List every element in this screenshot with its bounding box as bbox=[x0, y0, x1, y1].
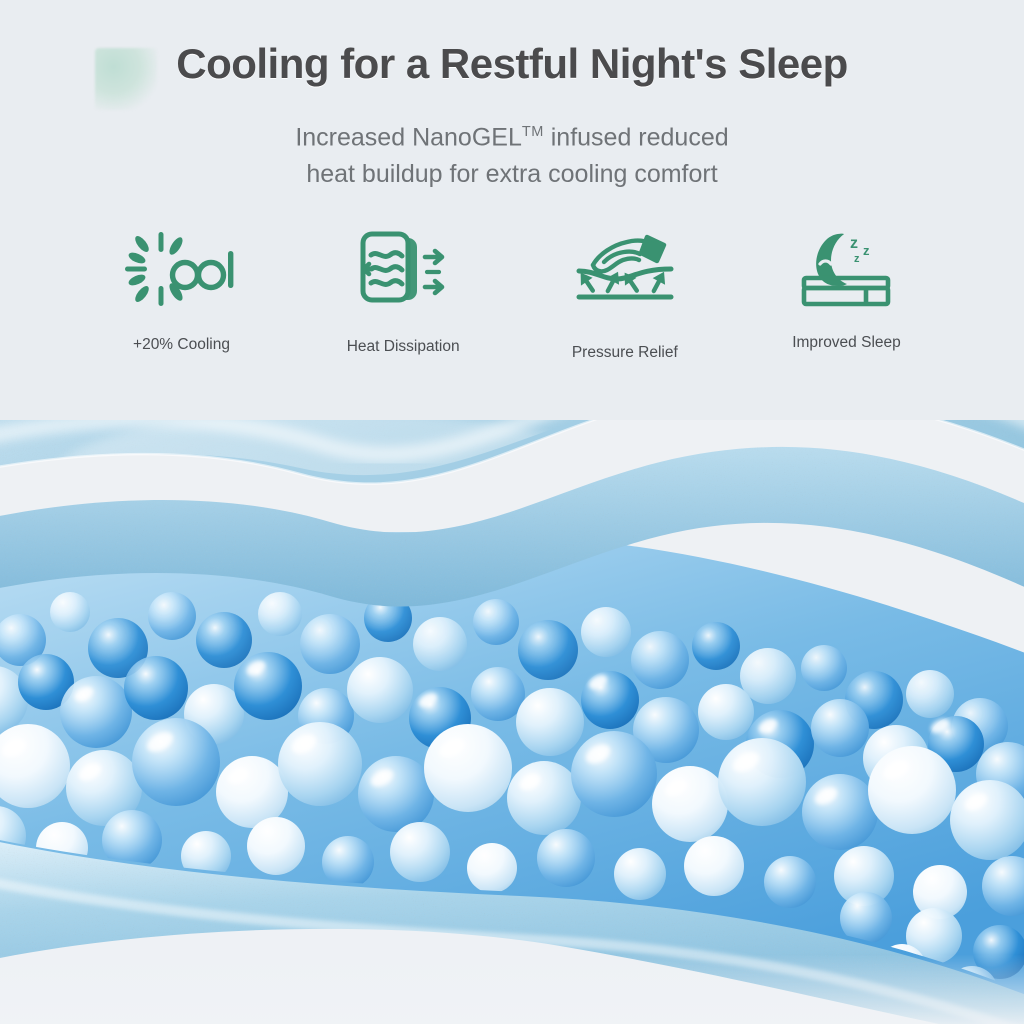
trademark-symbol: TM bbox=[522, 124, 544, 140]
svg-text:z: z bbox=[850, 235, 858, 252]
subtitle: Increased NanoGELTM infused reduced heat… bbox=[0, 114, 1024, 193]
snowflake-cool-icon bbox=[123, 229, 241, 309]
feature-item-pressure-relief[interactable]: Pressure Relief bbox=[517, 226, 732, 362]
heat-dissipation-icon bbox=[355, 229, 451, 309]
pressure-relief-hand-icon bbox=[573, 231, 677, 307]
page-title: Cooling for a Restful Night's Sleep bbox=[0, 40, 1024, 88]
subtitle-text-after: infused reduced bbox=[544, 123, 729, 151]
subtitle-line-1: Increased NanoGELTM infused reduced bbox=[0, 114, 1024, 156]
feature-list: +20% Cooling bbox=[74, 226, 954, 362]
svg-text:z: z bbox=[854, 253, 860, 265]
feature-label: Improved Sleep bbox=[792, 334, 901, 352]
feature-icon-wrapper bbox=[573, 226, 677, 312]
feature-label: +20% Cooling bbox=[133, 336, 230, 354]
feature-label: Pressure Relief bbox=[572, 344, 678, 362]
feature-item-heat-dissipation[interactable]: Heat Dissipation bbox=[296, 226, 511, 356]
feature-icon-wrapper: z z z bbox=[796, 226, 896, 312]
feature-icon-wrapper bbox=[355, 226, 451, 312]
svg-text:z: z bbox=[863, 243, 870, 258]
header-band: Cooling for a Restful Night's Sleep Incr… bbox=[0, 0, 1024, 420]
title-block: Cooling for a Restful Night's Sleep bbox=[0, 40, 1024, 88]
feature-item-improved-sleep[interactable]: z z z Improved Sleep bbox=[739, 226, 954, 352]
product-feature-banner: Cooling for a Restful Night's Sleep Incr… bbox=[0, 0, 1024, 1024]
subtitle-line-2: heat buildup for extra cooling comfort bbox=[0, 156, 1024, 193]
feature-item-cooling[interactable]: +20% Cooling bbox=[74, 226, 289, 354]
feature-label: Heat Dissipation bbox=[347, 338, 460, 356]
subtitle-text-before: Increased NanoGEL bbox=[295, 123, 522, 151]
feature-icon-wrapper bbox=[123, 226, 241, 312]
improved-sleep-moon-bed-icon: z z z bbox=[796, 228, 896, 310]
